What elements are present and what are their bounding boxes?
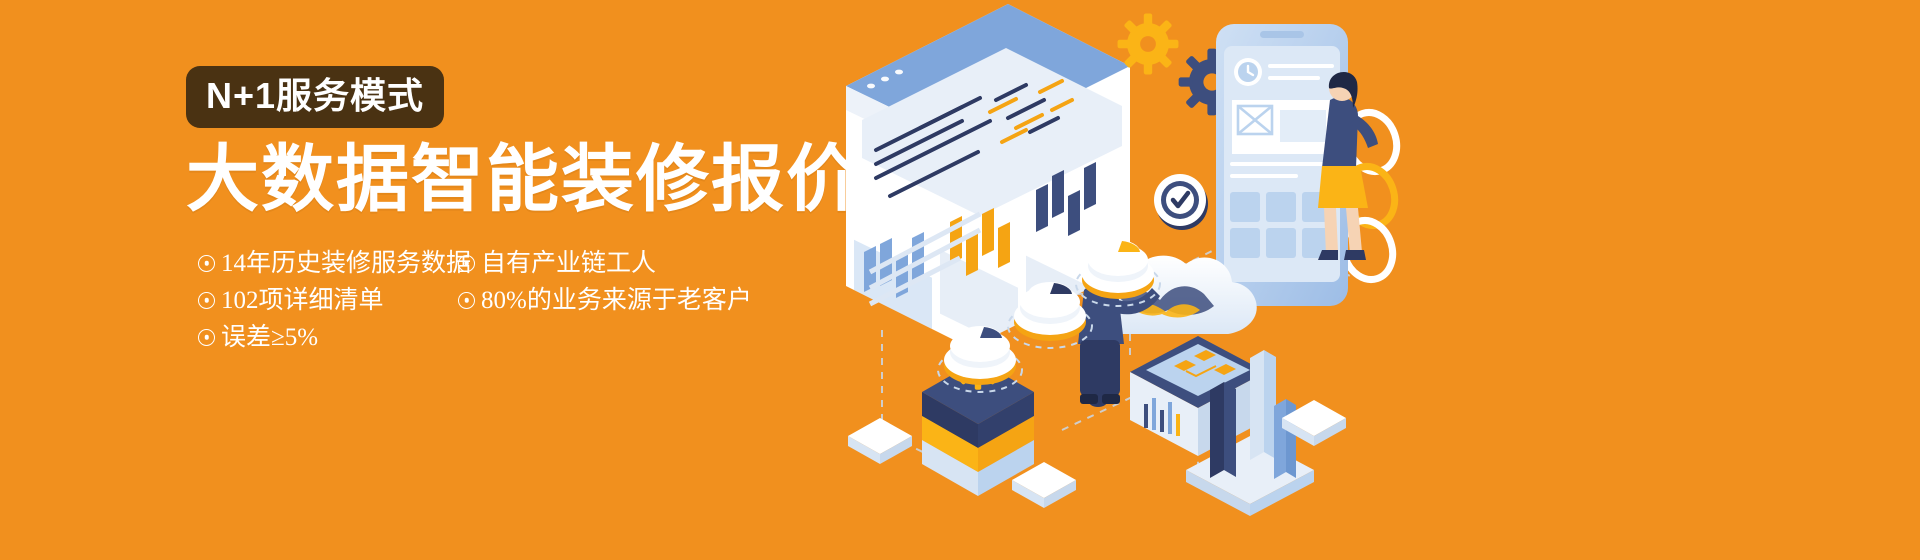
feature-label: 自有产业链工人 [481, 251, 656, 276]
feature-list: 14年历史装修服务数据 102项详细清单 误差≥5% 自有产业链工人 80%的业… [198, 245, 906, 356]
banner-copy: N+1服务模式 大数据智能装修报价 14年历史装修服务数据 102项详细清单 误… [186, 66, 906, 356]
bar-navy [1210, 382, 1236, 478]
circled-dot-icon [198, 329, 215, 346]
gear-orange-icon [1118, 14, 1179, 75]
feature-label: 102项详细清单 [221, 288, 384, 313]
list-item: 102项详细清单 [198, 282, 448, 319]
page-title: 大数据智能装修报价 [186, 142, 906, 219]
circled-dot-icon [198, 292, 215, 309]
clock-icon [1234, 58, 1262, 86]
feature-label: 80%的业务来源于老客户 [481, 288, 752, 313]
circled-dot-icon [198, 255, 215, 272]
promo-banner: N+1服务模式 大数据智能装修报价 14年历史装修服务数据 102项详细清单 误… [0, 0, 1920, 560]
circled-dot-icon [458, 255, 475, 272]
service-model-badge: N+1服务模式 [186, 66, 444, 128]
list-item: 误差≥5% [198, 319, 448, 356]
feature-label: 14年历史装修服务数据 [221, 251, 471, 276]
list-item: 14年历史装修服务数据 [198, 245, 448, 282]
circled-dot-icon [458, 292, 475, 309]
server-box [1130, 336, 1266, 456]
hero-illustration [830, 0, 1430, 560]
feature-label: 误差≥5% [221, 325, 318, 350]
check-badge-icon [1154, 174, 1208, 230]
bar-light [1250, 350, 1276, 460]
bar-blue [1274, 399, 1296, 479]
